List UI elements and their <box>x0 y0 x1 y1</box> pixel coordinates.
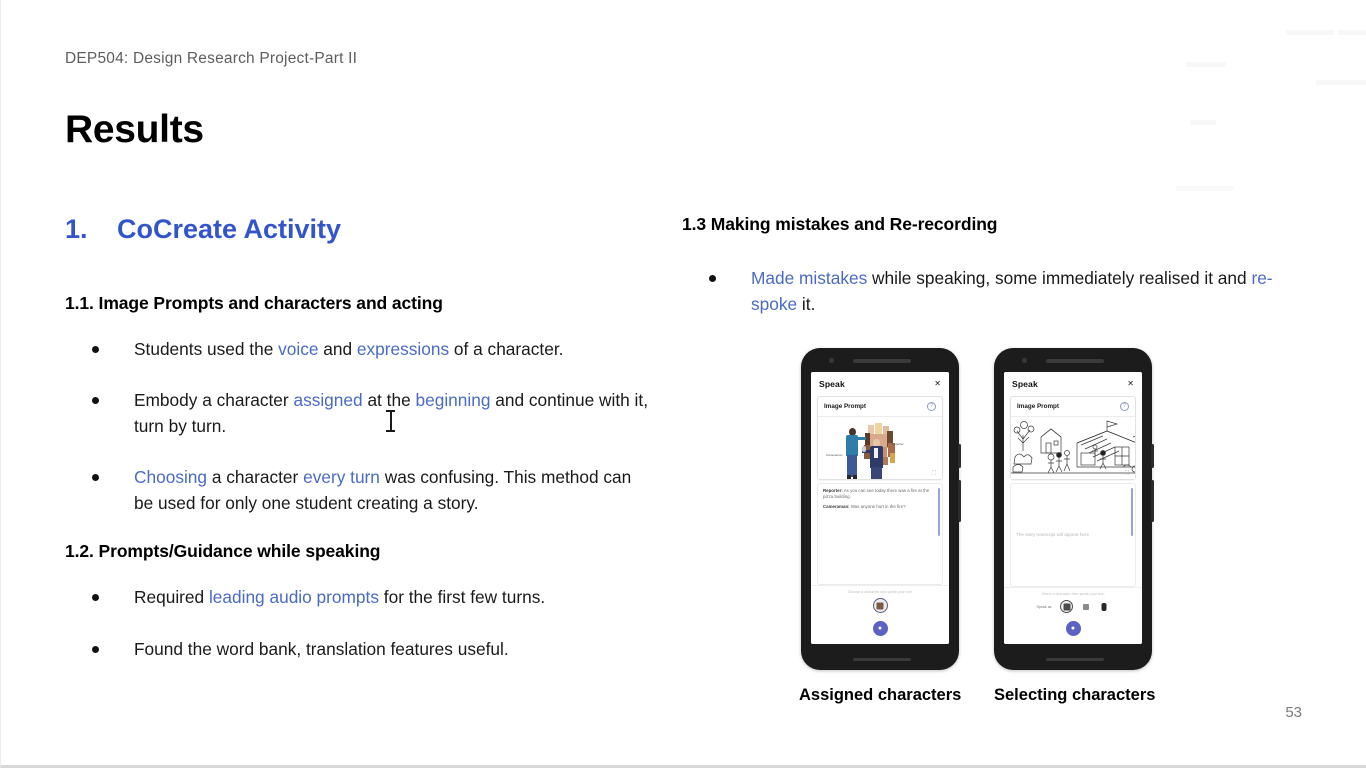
list-item: Made mistakes while speaking, some immed… <box>682 265 1282 317</box>
plain-text: at the <box>363 390 416 410</box>
bullet-list-1-2: Required leading audio prompts for the f… <box>65 584 655 662</box>
transcript-panel: Reporter: As you can see today there was… <box>817 483 943 585</box>
phone-screen: Speak ✕ Image Prompt ? <box>811 372 949 644</box>
plain-text: while speaking, some immediately realise… <box>867 268 1251 288</box>
plain-text: Required <box>134 587 209 607</box>
card-header: Image Prompt ? <box>1011 397 1135 417</box>
prompt-illustration: ⛶ <box>1011 417 1135 479</box>
app-bar: Speak ✕ <box>1004 372 1142 394</box>
plain-text: for the first few turns. <box>379 587 545 607</box>
page-title: Results <box>65 108 204 152</box>
phone-screen: Speak ✕ Image Prompt ? <box>1004 372 1142 644</box>
highlighted-phrase: every turn <box>303 467 380 487</box>
app-title: Speak <box>819 379 845 389</box>
speaker-grille <box>1046 359 1104 363</box>
list-item: Found the word bank, translation feature… <box>65 636 655 662</box>
hint-text: Choose a character and speak your turn <box>817 590 943 594</box>
document-header: DEP504: Design Research Project-Part II <box>65 50 357 68</box>
speaker-grille <box>853 359 911 363</box>
camera-icon <box>1022 358 1027 363</box>
avatar-row <box>817 598 943 613</box>
bullet-text: Embody a character assigned at the begin… <box>134 390 648 436</box>
transcript-panel: The story transcript will appear here <box>1010 483 1136 587</box>
subheading-1-2: 1.2. Prompts/Guidance while speaking <box>65 541 655 562</box>
hint-text: Select a character then speak your turn <box>1010 592 1136 596</box>
power-button <box>958 480 961 522</box>
avatar[interactable] <box>1098 601 1109 612</box>
scene-label-cameraman: Cameraman <box>826 453 843 457</box>
plain-text: Students used the <box>134 339 278 359</box>
scrollbar[interactable] <box>1131 488 1133 536</box>
plain-text: it. <box>797 294 815 314</box>
bullet-list-1-1: Students used the voice and expressions … <box>65 336 655 516</box>
page-number: 53 <box>1285 704 1302 721</box>
mic-bar: ● <box>811 616 949 644</box>
plain-text: of a character. <box>449 339 563 359</box>
left-column: 1. CoCreate Activity 1.1. Image Prompts … <box>65 214 655 688</box>
transcript-speaker: Cameraman: <box>823 504 850 509</box>
phone-mockup-selecting: Speak ✕ Image Prompt ? <box>994 348 1154 705</box>
subheading-1-1: 1.1. Image Prompts and characters and ac… <box>65 293 655 314</box>
microphone-icon[interactable]: ● <box>1066 621 1081 636</box>
character-panel: Select a character then speak your turn … <box>1004 587 1142 616</box>
mic-bar: ● <box>1004 616 1142 644</box>
highlighted-phrase: expressions <box>357 339 449 359</box>
bullet-text: Choosing a character every turn was conf… <box>134 467 631 513</box>
list-item: Choosing a character every turn was conf… <box>65 464 655 516</box>
phone-frame: Speak ✕ Image Prompt ? <box>994 348 1152 670</box>
card-title: Image Prompt <box>824 403 866 410</box>
microphone-icon[interactable]: ● <box>873 621 888 636</box>
character-panel: Choose a character and speak your turn <box>811 585 949 616</box>
app-title: Speak <box>1012 379 1038 389</box>
bullet-text: Students used the voice and expressions … <box>134 339 563 359</box>
phone-caption: Assigned characters <box>799 686 961 705</box>
highlighted-phrase: voice <box>278 339 318 359</box>
phone-mockup-assigned: Speak ✕ Image Prompt ? <box>801 348 961 705</box>
section-heading-cocreate: 1. CoCreate Activity <box>65 214 655 245</box>
image-prompt-card: Image Prompt ? <box>1010 396 1136 480</box>
phone-caption: Selecting characters <box>994 686 1154 705</box>
slide: DEP504: Design Research Project-Part II … <box>0 0 1366 768</box>
help-icon[interactable]: ? <box>927 402 936 411</box>
avatar-row-label: Speak as <box>1037 605 1052 609</box>
plain-text: and <box>318 339 356 359</box>
section-label: CoCreate Activity <box>117 214 341 245</box>
right-column: 1.3 Making mistakes and Re-recording Mad… <box>682 214 1282 342</box>
avatar[interactable] <box>1080 601 1091 612</box>
bullet-list-1-3: Made mistakes while speaking, some immed… <box>682 265 1282 317</box>
illustration-village-sketch <box>1011 417 1135 479</box>
card-title: Image Prompt <box>1017 403 1059 410</box>
image-prompt-card: Image Prompt ? <box>817 396 943 480</box>
bullet-text: Made mistakes while speaking, some immed… <box>751 268 1273 314</box>
transcript-line: Cameraman: Was anyone hurt in the fire? <box>823 504 937 510</box>
list-item: Embody a character assigned at the begin… <box>65 387 655 439</box>
close-icon[interactable]: ✕ <box>1127 380 1134 388</box>
sketch-svg <box>1011 417 1135 479</box>
avatar[interactable] <box>873 598 888 613</box>
list-item: Required leading audio prompts for the f… <box>65 584 655 610</box>
expand-icon[interactable]: ⛶ <box>932 470 938 476</box>
home-bar <box>1046 658 1104 662</box>
scrollbar[interactable] <box>938 488 940 536</box>
list-item: Students used the voice and expressions … <box>65 336 655 362</box>
app-bar: Speak ✕ <box>811 372 949 394</box>
help-icon[interactable]: ? <box>1120 402 1129 411</box>
scene-label-reporter: Reporter <box>892 442 904 446</box>
card-header: Image Prompt ? <box>818 397 942 417</box>
highlighted-phrase: assigned <box>293 390 362 410</box>
bullet-text: Found the word bank, translation feature… <box>134 639 509 659</box>
illustration-two-people: Cameraman Reporter <box>818 417 942 479</box>
transcript-line: Reporter: As you can see today there was… <box>823 488 937 500</box>
section-number: 1. <box>65 214 117 245</box>
avatar[interactable] <box>1060 600 1073 613</box>
home-bar <box>853 658 911 662</box>
highlighted-phrase: leading audio prompts <box>209 587 379 607</box>
volume-button <box>958 444 961 468</box>
highlighted-phrase: Made mistakes <box>751 268 867 288</box>
transcript-speaker: Reporter: <box>823 488 843 493</box>
watermark-artifact <box>1166 0 1366 115</box>
plain-text: Embody a character <box>134 390 293 410</box>
volume-button <box>1151 444 1154 468</box>
highlighted-phrase: Choosing <box>134 467 207 487</box>
plain-text: Found the word bank, translation feature… <box>134 639 509 659</box>
camera-icon <box>829 358 834 363</box>
transcript-text: Was anyone hurt in the fire? <box>850 504 906 509</box>
highlighted-phrase: beginning <box>415 390 490 410</box>
close-icon[interactable]: ✕ <box>934 380 941 388</box>
prompt-illustration: Cameraman Reporter ⛶ <box>818 417 942 479</box>
bullet-text: Required leading audio prompts for the f… <box>134 587 545 607</box>
phone-frame: Speak ✕ Image Prompt ? <box>801 348 959 670</box>
subheading-1-3: 1.3 Making mistakes and Re-recording <box>682 214 1282 235</box>
avatar-row: Speak as <box>1010 600 1136 613</box>
phone-mockups: Speak ✕ Image Prompt ? <box>801 348 1154 705</box>
expand-icon[interactable]: ⛶ <box>1125 470 1131 476</box>
transcript-placeholder: The story transcript will appear here <box>1016 532 1089 538</box>
power-button <box>1151 480 1154 522</box>
plain-text: a character <box>207 467 303 487</box>
